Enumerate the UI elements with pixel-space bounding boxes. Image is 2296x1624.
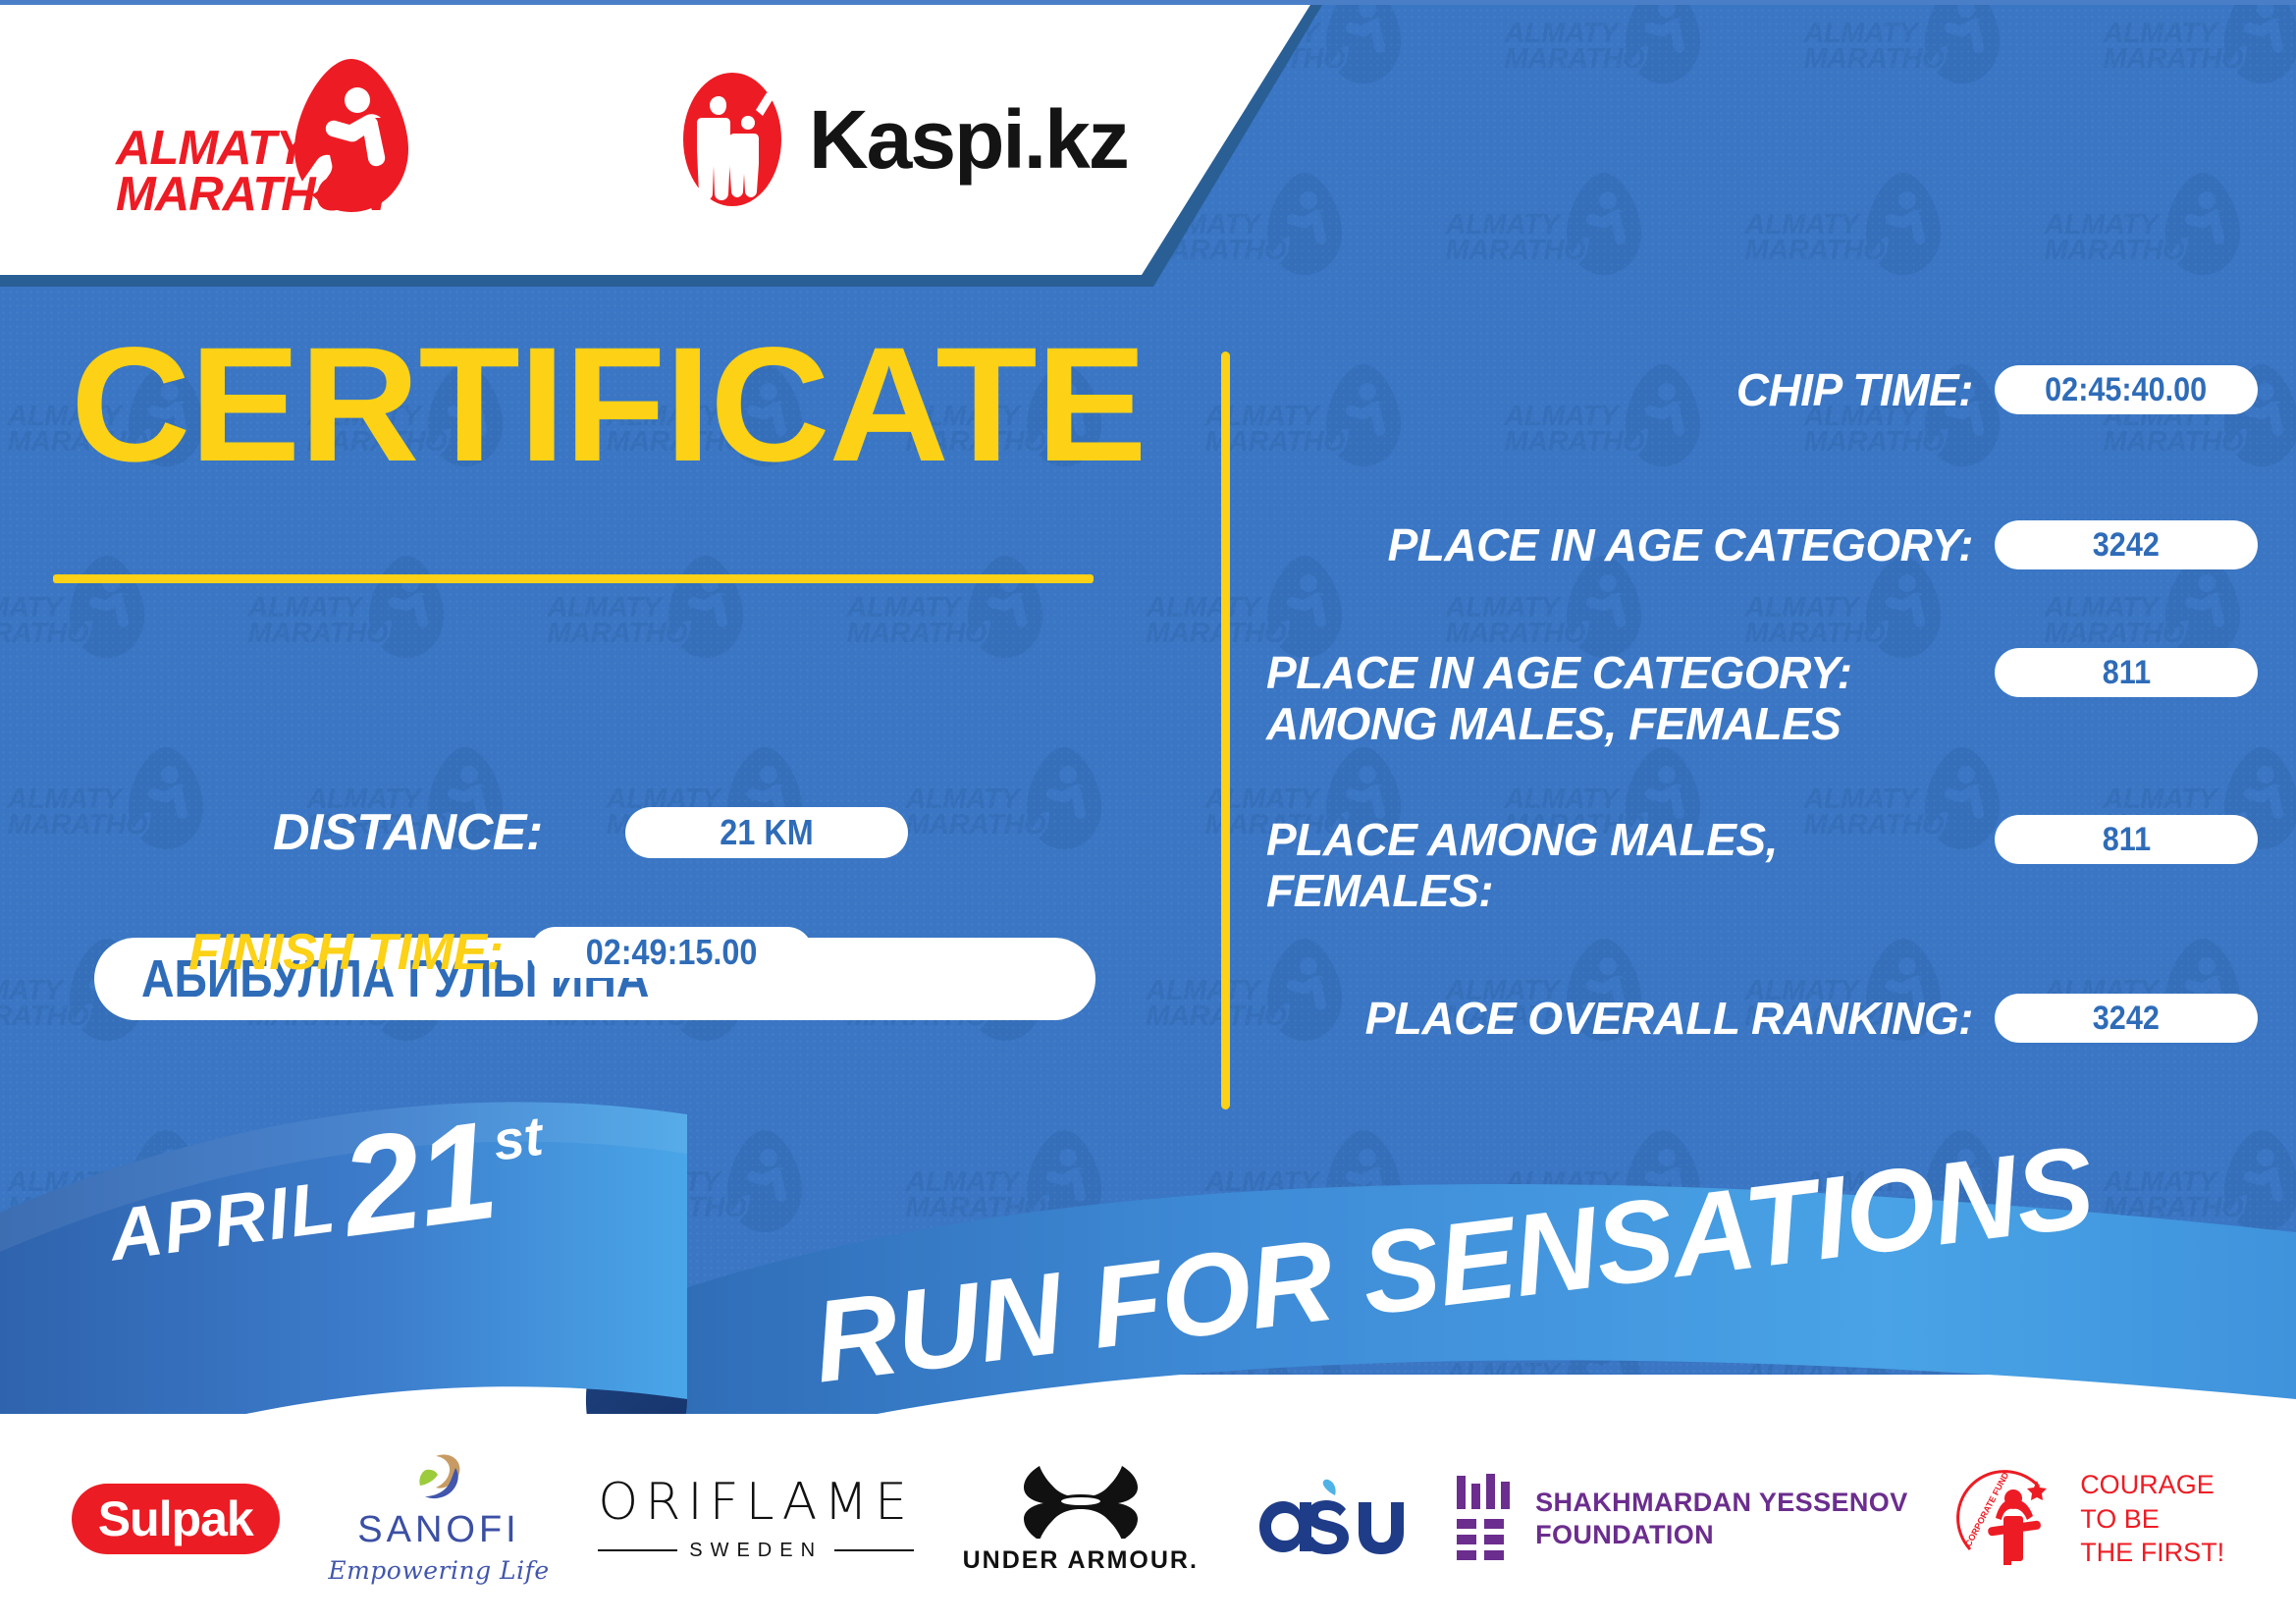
finish-time-label: FINISH TIME: [188,923,503,982]
watermark-text: ALMATYMARATHON [847,212,994,264]
sanofi-logo: SANOFI Empowering Life [328,1454,549,1585]
watermark-tile: ALMATYMARATHON [548,1324,754,1376]
distance-value: 21 KM [720,812,813,853]
watermark-text: ALMATYMARATHON [1804,21,1951,73]
result-label: PLACE IN AGE CATEGORY: [1266,520,1995,571]
watermark-runner-icon [65,1320,149,1376]
kaspi-logo: Kaspi.kz [677,71,1128,208]
watermark-text: ALMATYMARATHON [2045,212,2192,264]
watermark-text: ALMATYMARATHON [1745,1361,1893,1376]
sponsor-sanofi: SANOFI Empowering Life [328,1455,549,1583]
finish-time-value: 02:49:15.00 [586,932,758,973]
column-divider [1221,352,1230,1110]
sponsor-under-armour: UNDER ARMOUR. [963,1455,1199,1583]
results-column: CHIP TIME: 02:45:40.00 PLACE IN AGE CATE… [1266,334,2258,1119]
sanofi-swoosh-icon [406,1454,471,1505]
watermark-text: ALMATYMARATHON [607,21,754,73]
watermark-tile: ALMATYMARATHON [2045,1324,2251,1376]
result-value: 811 [2102,821,2150,859]
result-row: PLACE IN AGE CATEGORY: AMONG MALES, FEMA… [1266,648,2258,749]
result-label: PLACE IN AGE CATEGORY: AMONG MALES, FEMA… [1266,648,1995,749]
result-value: 811 [2102,654,2150,692]
watermark-text: ALMATYMARATHON [548,212,695,264]
watermark-text: ALMATYMARATHON [1147,212,1294,264]
under-armour-wordmark: UNDER ARMOUR. [963,1546,1199,1575]
oriflame-tagline: SWEDEN [689,1540,823,1562]
watermark-tile: ALMATYMARATHON [1745,175,1951,322]
sanofi-tagline: Empowering Life [328,1556,549,1585]
watermark-runner-icon [2219,0,2296,85]
watermark-runner-icon [722,1128,807,1234]
watermark-runner-icon [1562,171,1646,277]
watermark-runner-icon [2161,1320,2245,1376]
watermark-tile: ALMATYMARATHON [607,1132,813,1279]
under-armour-logo: UNDER ARMOUR. [963,1464,1199,1575]
result-value: 3242 [2093,526,2160,565]
sponsor-yessenov: SHAKHMARDAN YESSENOV FOUNDATION [1453,1455,1908,1583]
left-column: CERTIFICATE АБИБУЛЛА ГУЛЬГИНА [0,295,1158,1110]
result-label: PLACE OVERALL RANKING: [1266,994,1995,1045]
watermark-tile: ALMATYMARATHON [1505,0,1711,131]
watermark-text: ALMATYMARATHON [2104,1169,2251,1221]
sponsor-oriflame: ORIFLAME SWEDEN [598,1455,914,1583]
result-value-pill: 811 [1995,815,2258,864]
watermark-text: ALMATYMARATHON [0,1361,96,1376]
almaty-marathon-wordmark: ALMATY MARATHON [116,126,400,217]
watermark-tile: ALMATYMARATHON [2104,0,2296,131]
watermark-runner-icon [1861,1320,1946,1376]
result-value: 02:45:40.00 [2045,371,2207,409]
rule-right [834,1549,914,1551]
result-value-pill: 3242 [1995,994,2258,1043]
sulpak-wordmark: Sulpak [98,1490,253,1547]
oriflame-sub: SWEDEN [598,1540,914,1562]
distance-value-pill: 21 KM [625,807,908,858]
watermark-runner-icon [1920,0,2004,85]
watermark-text: ALMATYMARATHON [1446,1361,1593,1376]
watermark-runner-icon [2161,171,2245,277]
watermark-text: ALMATYMARATHON [1505,21,1652,73]
watermark-runner-icon [1321,0,1406,85]
finish-time-row: FINISH TIME: 02:49:15.00 [188,923,813,982]
watermark-tile: ALMATYMARATHON [0,1324,155,1376]
watermark-tile: ALMATYMARATHON [1745,1324,1951,1376]
certificate-title: CERTIFICATE [71,324,1147,487]
result-row: PLACE IN AGE CATEGORY: 3242 [1266,520,2258,571]
almaty-line: ALMATY [116,126,400,172]
yessenov-foundation-logo: SHAKHMARDAN YESSENOV FOUNDATION [1453,1474,1908,1564]
sponsor-courage-fund: CORPORATE FUND COURAGE TO BE THE FIRST! [1956,1455,2224,1583]
courage-fund-wordmark: COURAGE TO BE THE FIRST! [2080,1468,2224,1570]
watermark-text: ALMATYMARATHON [906,1169,1053,1221]
result-row: PLACE AMONG MALES, FEMALES: 811 [1266,815,2258,916]
result-value-pill: 02:45:40.00 [1995,365,2258,414]
almaty-marathon-logo: ALMATY MARATHON [116,57,459,229]
watermark-text: ALMATYMARATHON [248,1361,396,1376]
event-day-suffix: st [490,1109,546,1169]
watermark-runner-icon [2219,1128,2296,1234]
watermark-text: ALMATYMARATHON [2104,21,2251,73]
event-day: 21 [336,1113,501,1247]
kaspi-person-icon [677,71,787,208]
sponsor-asu [1248,1455,1405,1583]
sanofi-wordmark: SANOFI [357,1511,519,1548]
watermark-text: ALMATYMARATHON [607,1169,754,1221]
watermark-runner-icon [1262,171,1347,277]
courage-runner-icon: CORPORATE FUND [1956,1465,2066,1573]
sponsor-sulpak: Sulpak [72,1455,280,1583]
watermark-runner-icon [1621,0,1705,85]
title-underline [53,574,1094,583]
watermark-runner-icon [1562,1320,1646,1376]
result-row: PLACE OVERALL RANKING: 3242 [1266,994,2258,1045]
under-armour-icon [1020,1464,1142,1539]
watermark-tile: ALMATYMARATHON [1147,175,1353,322]
watermark-runner-icon [664,1320,748,1376]
sulpak-logo: Sulpak [72,1484,280,1554]
asu-logo [1248,1474,1405,1564]
distance-row: DISTANCE: 21 KM [273,803,908,862]
result-label: CHIP TIME: [1266,365,1995,416]
watermark-text: ALMATYMARATHON [1205,21,1353,73]
watermark-runner-icon [1022,1128,1106,1234]
watermark-text: ALMATYMARATHON [2045,1361,2192,1376]
distance-label: DISTANCE: [273,803,543,862]
watermark-runner-icon [364,1320,449,1376]
yessenov-bars-icon [1453,1474,1516,1564]
watermark-runner-icon [1861,171,1946,277]
result-row: CHIP TIME: 02:45:40.00 [1266,365,2258,416]
watermark-tile: ALMATYMARATHON [1446,175,1652,322]
result-value-pill: 3242 [1995,520,2258,569]
watermark-text: ALMATYMARATHON [548,1361,695,1376]
kaspi-wordmark: Kaspi.kz [809,92,1128,188]
finish-time-value-pill: 02:49:15.00 [530,927,813,978]
watermark-tile: ALMATYMARATHON [2045,175,2251,322]
result-value: 3242 [2093,1000,2160,1038]
watermark-tile: ALMATYMARATHON [1446,1324,1652,1376]
watermark-text: ALMATYMARATHON [1745,212,1893,264]
certificate-page: ALMATYMARATHONALMATYMARATHONALMATYMARATH… [0,0,2296,1624]
asu-wordmark-icon [1248,1474,1405,1564]
sponsor-bar: Sulpak SANOFI Empowering Life ORIFLAME S… [0,1414,2296,1624]
watermark-text: ALMATYMARATHON [906,21,1053,73]
watermark-tile: ALMATYMARATHON [1804,0,2010,131]
rule-left [598,1549,677,1551]
marathon-line: MARATHON [116,172,400,218]
courage-fund-logo: CORPORATE FUND COURAGE TO BE THE FIRST! [1956,1465,2224,1573]
oriflame-logo: ORIFLAME SWEDEN [598,1477,914,1562]
watermark-tile: ALMATYMARATHON [2104,1132,2296,1279]
watermark-tile: ALMATYMARATHON [1205,0,1412,131]
result-label: PLACE AMONG MALES, FEMALES: [1266,815,1995,916]
result-value-pill: 811 [1995,648,2258,697]
watermark-tile: ALMATYMARATHON [248,1324,454,1376]
watermark-text: ALMATYMARATHON [0,212,96,264]
watermark-text: ALMATYMARATHON [1446,212,1593,264]
yessenov-wordmark: SHAKHMARDAN YESSENOV FOUNDATION [1535,1487,1908,1551]
oriflame-wordmark: ORIFLAME [598,1477,914,1528]
